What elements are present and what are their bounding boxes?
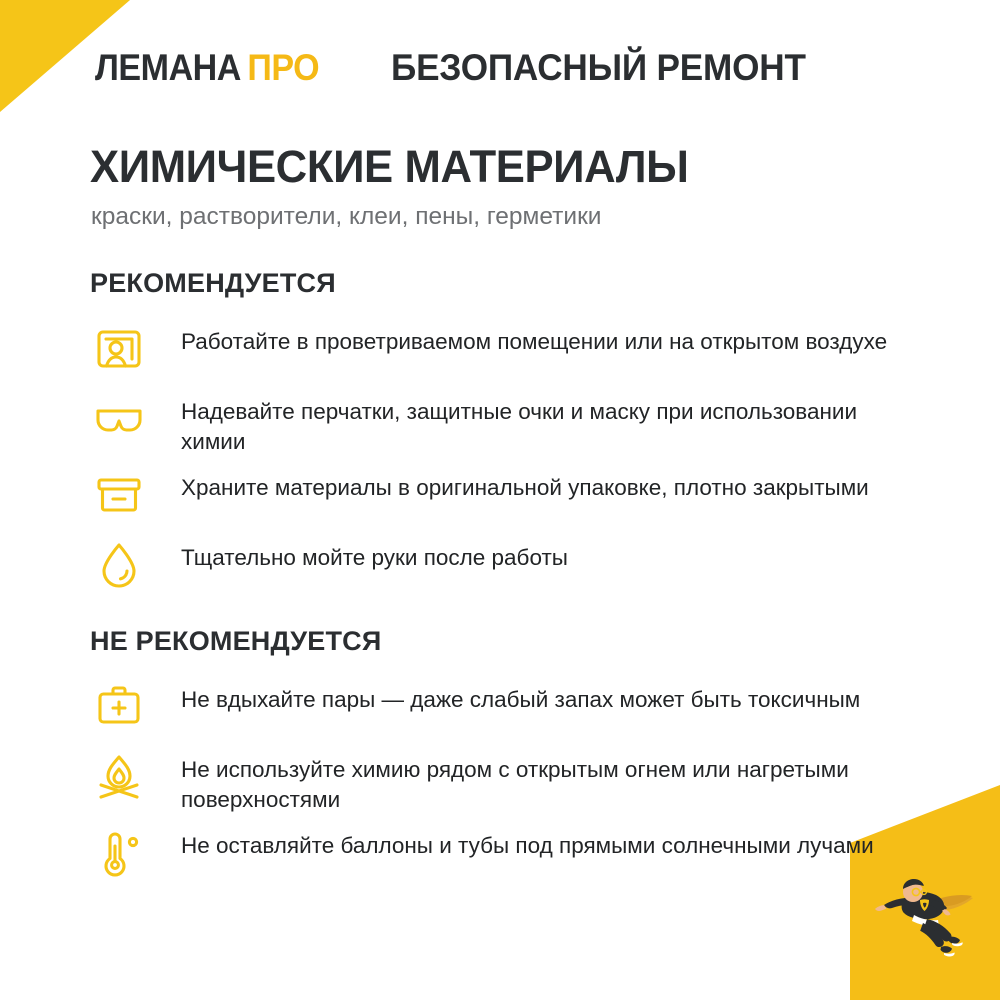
section-title-recommended: РЕКОМЕНДУЕТСЯ: [90, 270, 920, 297]
poster-header: ЛЕМАНАПРО БЕЗОПАСНЫЙ РЕМОНТ: [95, 44, 940, 90]
flying-superhero-mascot: [853, 867, 988, 972]
list-item-text: Не вдыхайте пары — даже слабый запах мож…: [181, 677, 860, 715]
campfire-icon: [90, 748, 148, 806]
list-item-text: Не используйте химию рядом с открытым ог…: [181, 747, 911, 815]
header-campaign-title: БЕЗОПАСНЫЙ РЕМОНТ: [391, 49, 806, 86]
water-drop-icon: [90, 536, 148, 594]
list-item: Не вдыхайте пары — даже слабый запах мож…: [90, 677, 920, 739]
not-recommended-items-list: Не вдыхайте пары — даже слабый запах мож…: [90, 677, 920, 885]
brand-logo-main: ЛЕМАНА: [95, 47, 241, 88]
list-item-text: Храните материалы в оригинальной упаковк…: [181, 465, 869, 503]
page-title: ХИМИЧЕСКИЕ МАТЕРИАЛЫ: [90, 144, 688, 189]
list-item: Не используйте химию рядом с открытым ог…: [90, 747, 920, 815]
section-not-recommended: НЕ РЕКОМЕНДУЕТСЯ Не вдыхайте пары — даже…: [90, 628, 920, 893]
list-item-text: Работайте в проветриваемом помещении или…: [181, 319, 887, 357]
section-title-not-recommended: НЕ РЕКОМЕНДУЕТСЯ: [90, 628, 920, 655]
list-item: Тщательно мойте руки после работы: [90, 535, 920, 597]
thermometer-sun-icon: [90, 824, 148, 882]
safety-goggles-icon: [90, 390, 148, 448]
first-aid-kit-icon: [90, 678, 148, 736]
list-item: Не оставляйте баллоны и тубы под прямыми…: [90, 823, 920, 885]
list-item-text: Надевайте перчатки, защитные очки и маск…: [181, 389, 911, 457]
brand-logo-pro: ПРО: [247, 47, 319, 88]
infographic-poster: ЛЕМАНАПРО БЕЗОПАСНЫЙ РЕМОНТ ХИМИЧЕСКИЕ М…: [0, 0, 1000, 1000]
list-item-text: Тщательно мойте руки после работы: [181, 535, 568, 573]
section-recommended: РЕКОМЕНДУЕТСЯ Работайте в проветриваемом…: [90, 270, 920, 605]
list-item: Работайте в проветриваемом помещении или…: [90, 319, 920, 381]
brand-logo: ЛЕМАНАПРО: [95, 49, 319, 86]
recommended-items-list: Работайте в проветриваемом помещении или…: [90, 319, 920, 597]
list-item: Храните материалы в оригинальной упаковк…: [90, 465, 920, 527]
list-item: Надевайте перчатки, защитные очки и маск…: [90, 389, 920, 457]
ventilated-room-icon: [90, 320, 148, 378]
page-subtitle: краски, растворители, клеи, пены, гермет…: [91, 202, 601, 231]
storage-box-icon: [90, 466, 148, 524]
list-item-text: Не оставляйте баллоны и тубы под прямыми…: [181, 823, 874, 861]
